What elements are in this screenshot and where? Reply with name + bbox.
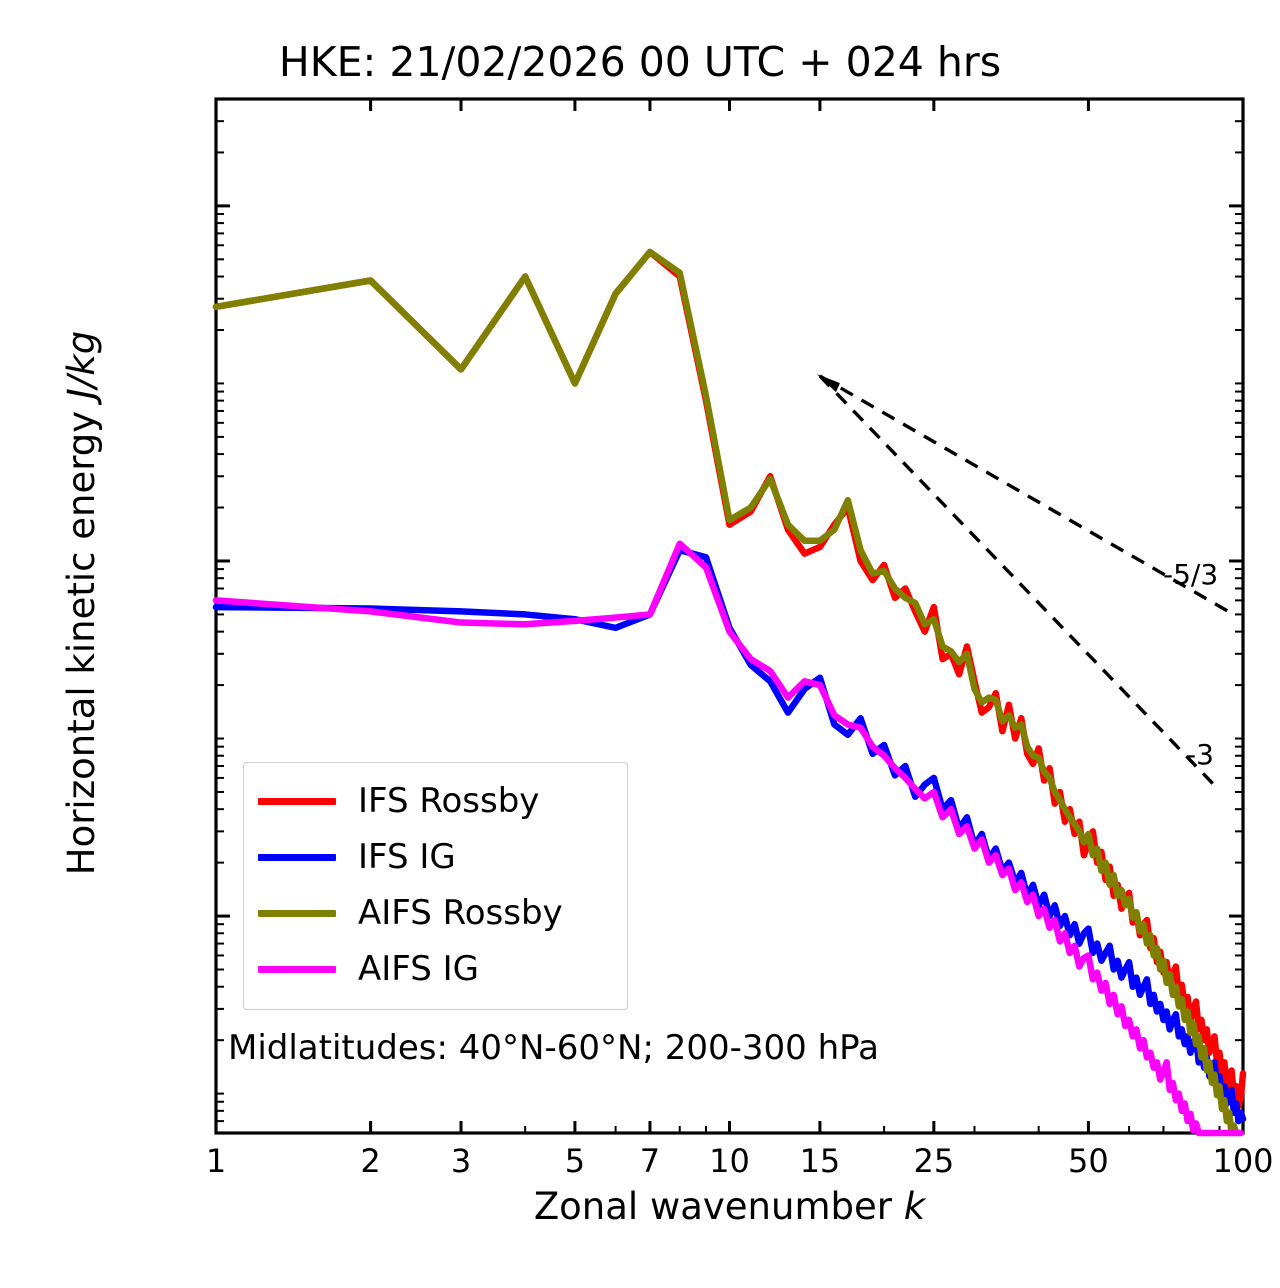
legend-item-aifs-ig[interactable]: AIFS IG <box>258 941 613 997</box>
legend-swatch-ifs-ig <box>258 854 336 861</box>
legend-label: IFS Rossby <box>358 784 539 818</box>
chart-canvas: HKE: 21/02/2026 00 UTC + 024 hrs Horizon… <box>0 0 1280 1288</box>
slope-label-minus-three: -3 <box>1186 738 1214 771</box>
chart-legend: IFS RossbyIFS IGAIFS RossbyAIFS IG <box>243 762 628 1010</box>
plot-area <box>0 0 1280 1288</box>
region-annotation: Midlatitudes: 40°N-60°N; 200-300 hPa <box>228 1028 879 1068</box>
legend-label: IFS IG <box>358 840 456 874</box>
legend-swatch-ifs-rossby <box>258 798 336 805</box>
legend-item-ifs-ig[interactable]: IFS IG <box>258 829 613 885</box>
legend-label: AIFS IG <box>358 952 479 986</box>
legend-label: AIFS Rossby <box>358 896 563 930</box>
legend-item-ifs-rossby[interactable]: IFS Rossby <box>258 773 613 829</box>
legend-swatch-aifs-ig <box>258 966 336 973</box>
slope-label-minus-five-thirds: -5/3 <box>1163 558 1218 591</box>
slope-origin-arrow <box>817 374 840 392</box>
legend-item-aifs-rossby[interactable]: AIFS Rossby <box>258 885 613 941</box>
legend-swatch-aifs-rossby <box>258 910 336 917</box>
